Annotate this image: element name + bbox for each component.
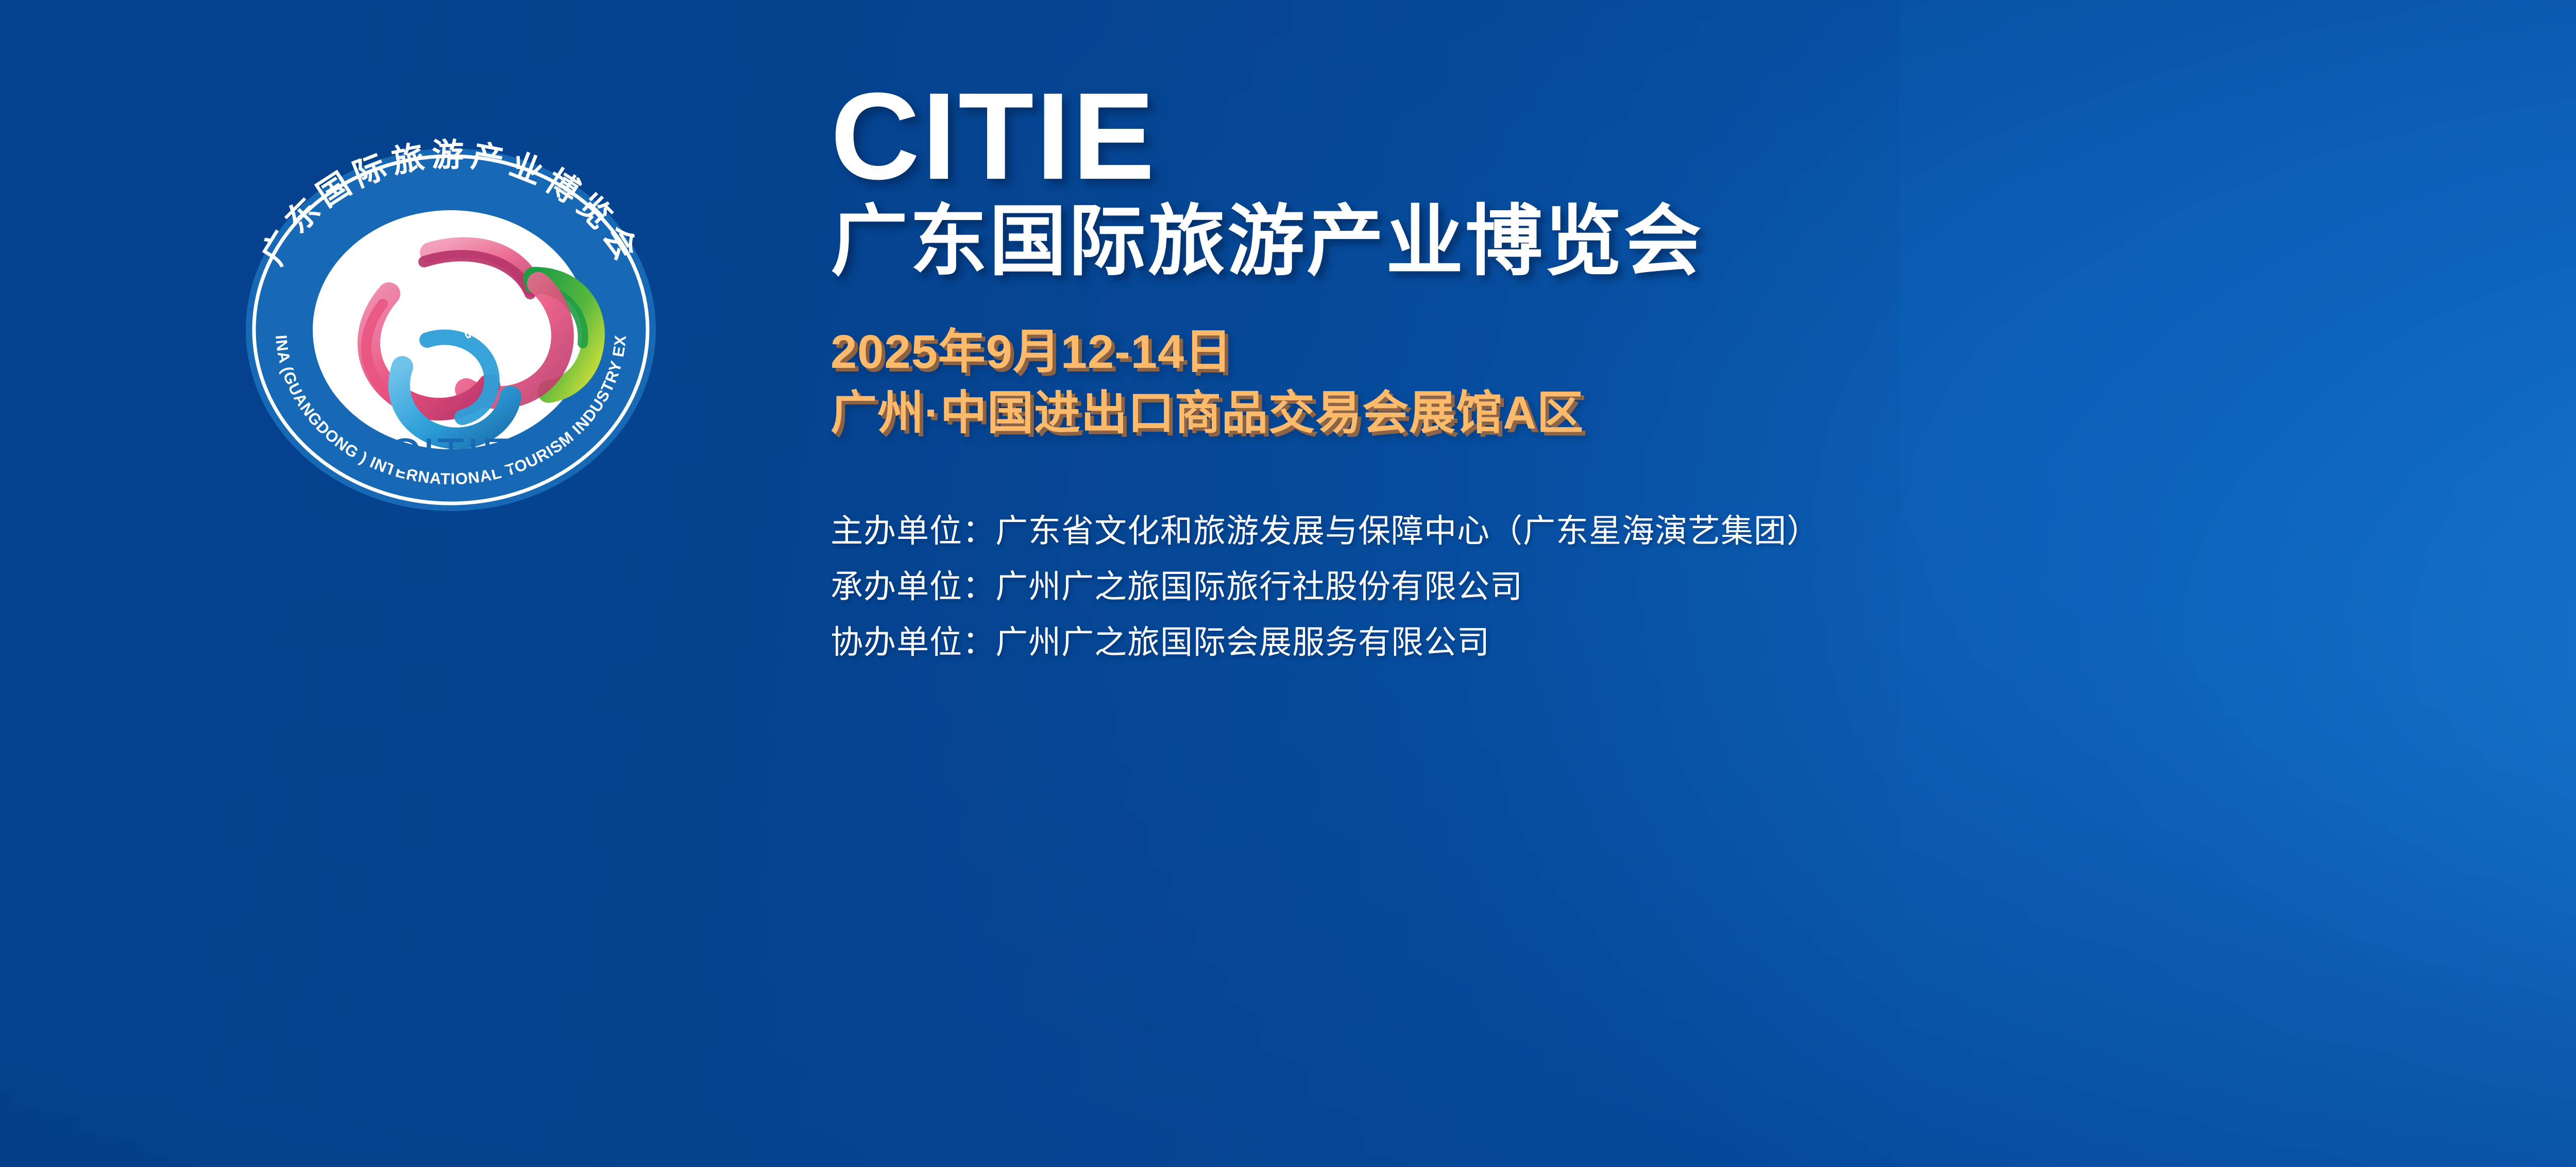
organizer-coorganizer: 协办单位：广州广之旅国际会展服务有限公司	[831, 615, 2576, 670]
event-venue: 广州·中国进出口商品交易会展馆A区	[831, 383, 2576, 444]
event-info-block: 2025年9月12-14日 广州·中国进出口商品交易会展馆A区	[831, 322, 2576, 444]
organizer-block: 主办单位：广东省文化和旅游发展与保障中心（广东星海演艺集团） 承办单位：广州广之…	[831, 503, 2576, 671]
page-title-chinese: 广东国际旅游产业博览会	[831, 198, 2576, 284]
page-title-english: CITIE	[831, 77, 2576, 195]
organizer-host: 主办单位：广东省文化和旅游发展与保障中心（广东星海演艺集团）	[831, 503, 2576, 559]
headline-block: CITIE 广东国际旅游产业博览会 2025年9月12-14日 广州·中国进出口…	[831, 77, 2576, 671]
organizer-undertaker: 承办单位：广州广之旅国际旅行社股份有限公司	[831, 559, 2576, 615]
citie-expo-banner: 让美好世界与你相遇 | Meet the Wonderful World !	[0, 0, 2576, 1167]
logo-abbreviation: CITIE	[388, 429, 514, 480]
event-dates: 2025年9月12-14日	[831, 322, 2576, 383]
citie-expo-logo[interactable]: 广东国际旅游产业博览会 CHINA (GUANGDONG ) INTERNATI…	[219, 124, 683, 536]
